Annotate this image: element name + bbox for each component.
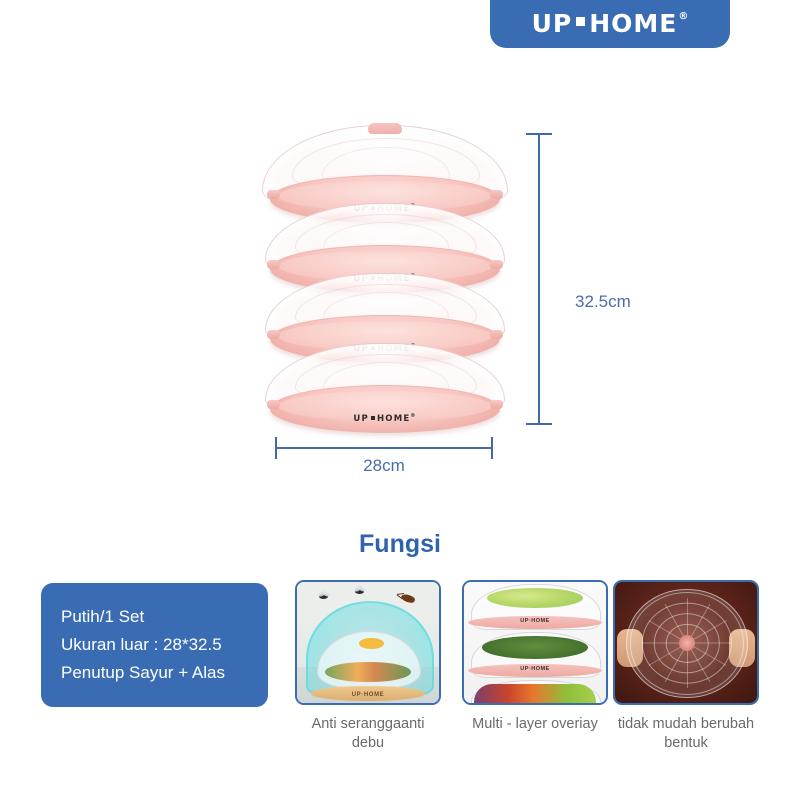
- info-line-color-set: Putih/1 Set: [61, 603, 268, 631]
- feature-card-row: UP·HOME Anti seranggaanti debu UP·HOME: [295, 580, 765, 780]
- tray-handle-right: [490, 400, 503, 409]
- stack-layer-middle: UP·HOME: [468, 632, 601, 676]
- height-dimension-label: 32.5cm: [575, 292, 631, 312]
- dome-center-knob: [679, 635, 695, 651]
- section-heading: Fungsi: [0, 530, 800, 559]
- brand-banner: UP HOME ®: [490, 0, 730, 48]
- feature-card-durability: tidak mudah berubah bentuk: [613, 580, 759, 753]
- dome-knob: [368, 123, 402, 134]
- feature-card-anti-insect: UP·HOME Anti seranggaanti debu: [295, 580, 441, 753]
- product-stack-image: UPHOME® UPHOME® UPHOME®: [250, 125, 520, 435]
- flexible-dome: [626, 589, 747, 697]
- tray-handle-left: [267, 190, 280, 199]
- fruit-food: [474, 684, 597, 705]
- square-dot-icon: [576, 17, 585, 26]
- tray-handle-right: [490, 330, 503, 339]
- stack-layer-bottom: [468, 680, 601, 705]
- feature-caption: Multi - layer overiay: [462, 715, 608, 734]
- tray-brand-label: UP·HOME: [468, 666, 601, 672]
- pink-tray: UPHOME®: [270, 385, 500, 433]
- tray-handle-left: [267, 260, 280, 269]
- square-dot-icon: [371, 416, 375, 420]
- feature-thumbnail-anti-insect: UP·HOME: [295, 580, 441, 705]
- registered-mark: ®: [678, 12, 689, 22]
- brand-name-right: HOME: [589, 11, 677, 36]
- pink-tray: UP·HOME: [468, 616, 601, 629]
- tray-brand-label: UP·HOME: [468, 618, 601, 624]
- tray-handle-right: [490, 260, 503, 269]
- height-dimension-cap-top: [526, 133, 552, 135]
- tray-handle-right: [490, 190, 503, 199]
- egg-food-item: [359, 638, 383, 649]
- width-dimension-line: [275, 447, 493, 449]
- lettuce-food: [487, 588, 583, 608]
- height-dimension-cap-bottom: [526, 423, 552, 425]
- tray-handle-left: [267, 330, 280, 339]
- feature-card-multi-layer: UP·HOME UP·HOME: [462, 580, 608, 734]
- feature-thumbnail-multi-layer: UP·HOME UP·HOME: [462, 580, 608, 705]
- width-dimension-label: 28cm: [275, 456, 493, 476]
- product-info-box: Putih/1 Set Ukuran luar : 28*32.5 Penutu…: [41, 583, 268, 707]
- tray-brand-label: UPHOME®: [271, 413, 499, 424]
- height-dimension-line: [538, 133, 540, 425]
- feature-thumbnail-durability: [613, 580, 759, 705]
- info-line-outer-size: Ukuran luar : 28*32.5: [61, 631, 268, 659]
- product-infographic: UP HOME ® UPHOME®: [0, 0, 800, 800]
- info-line-contents: Penutup Sayur + Alas: [61, 659, 268, 687]
- feature-caption: Anti seranggaanti debu: [295, 715, 441, 753]
- fly-icon: [355, 589, 364, 594]
- tray-handle-left: [267, 400, 280, 409]
- fly-icon: [319, 594, 328, 599]
- brand-name-left: UP: [532, 11, 573, 36]
- brand-logo: UP HOME ®: [532, 8, 689, 36]
- stack-layer-top: UP·HOME: [468, 584, 601, 628]
- pink-tray: UP·HOME: [468, 664, 601, 677]
- feature-caption: tidak mudah berubah bentuk: [613, 715, 759, 753]
- thumbnail-brand-label: UP·HOME: [297, 692, 439, 698]
